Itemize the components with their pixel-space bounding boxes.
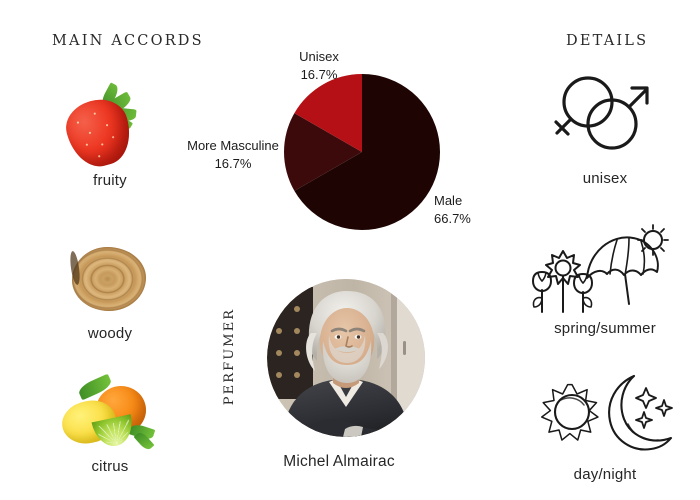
accord-label: fruity: [30, 172, 190, 189]
pie-label-male-value: 66.7%: [434, 210, 471, 228]
detail-label: unisex: [520, 170, 690, 187]
accord-item-citrus: citrus: [30, 368, 190, 475]
accord-label: woody: [30, 325, 190, 342]
detail-item-unisex: unisex: [520, 72, 690, 187]
pie-label-male-name: Male: [434, 193, 462, 208]
main-accords-heading: MAIN ACCORDS: [52, 33, 204, 49]
gender-pie-chart: Unisex 16.7% More Masculine 16.7% Male 6…: [180, 48, 500, 238]
citrus-icon: [50, 368, 170, 454]
flowers-parasol-sun-icon: [520, 222, 690, 318]
poster-canvas: MAIN ACCORDS DETAILS fruity woody citrus: [0, 0, 700, 500]
accord-item-woody: woody: [30, 235, 190, 342]
pie-label-unisex-name: Unisex: [299, 49, 339, 64]
perfumer-name: Michel Almairac: [205, 453, 473, 471]
venus-mars-icon: [520, 72, 690, 168]
pie-label-unisex-value: 16.7%: [284, 66, 354, 84]
pie-label-more-masculine-name: More Masculine: [187, 138, 279, 153]
detail-label: spring/summer: [520, 320, 690, 337]
accord-label: citrus: [30, 458, 190, 475]
details-heading: DETAILS: [566, 33, 648, 49]
pie-label-more-masculine-value: 16.7%: [178, 155, 288, 173]
pie-label-more-masculine: More Masculine 16.7%: [178, 137, 288, 172]
perfumer-section-label: PERFUMER: [222, 308, 237, 405]
strawberry-icon: [50, 82, 170, 168]
wood-slice-icon: [50, 235, 170, 321]
pie-label-male: Male 66.7%: [434, 192, 471, 227]
perfumer-portrait-image: [267, 279, 425, 437]
detail-label: day/night: [520, 466, 690, 483]
sun-moon-icon: [520, 368, 690, 464]
detail-item-season: spring/summer: [520, 222, 690, 337]
pie-label-unisex: Unisex 16.7%: [284, 48, 354, 83]
accord-item-fruity: fruity: [30, 82, 190, 189]
pie-chart-svg: [282, 72, 442, 232]
detail-item-time-of-day: day/night: [520, 368, 690, 483]
perfumer-avatar: [267, 279, 425, 437]
perfumer-block: PERFUMER: [205, 275, 465, 480]
